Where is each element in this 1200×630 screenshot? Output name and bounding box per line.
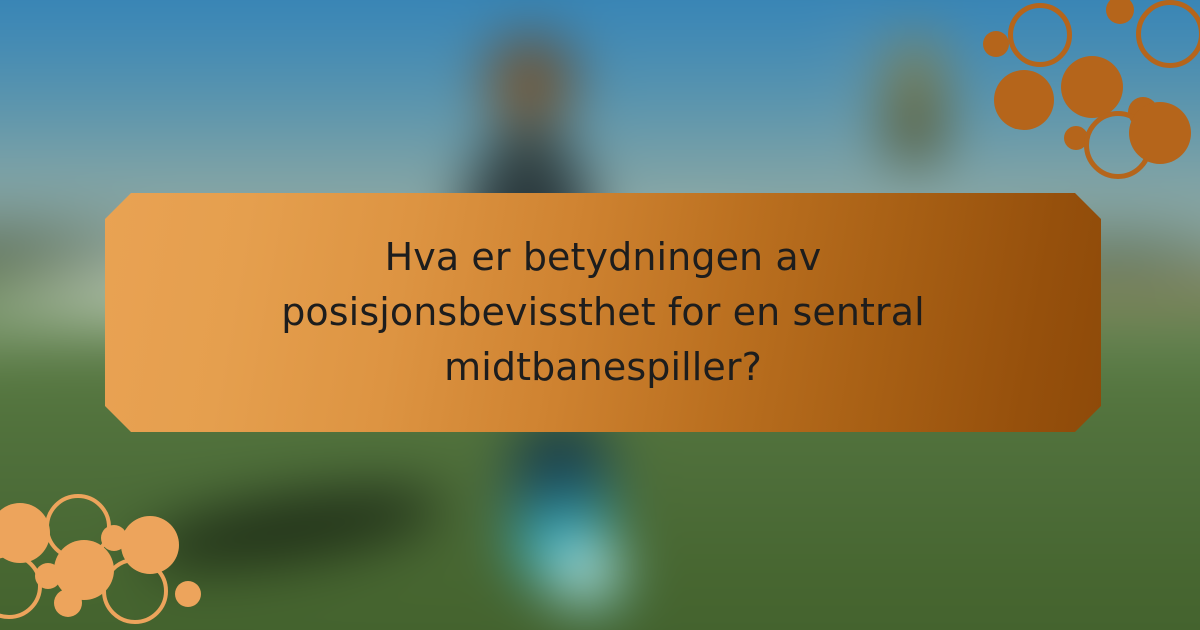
photo-soccer-ball [552,541,624,611]
photo-player-head [485,37,576,126]
photo-pole [851,6,856,172]
question-text: Hva er betydningen av posisjonsbevissthe… [233,230,973,395]
social-card: Hva er betydningen av posisjonsbevissthe… [0,0,1200,630]
photo-second-figure [885,37,944,164]
question-banner: Hva er betydningen av posisjonsbevissthe… [105,193,1101,432]
